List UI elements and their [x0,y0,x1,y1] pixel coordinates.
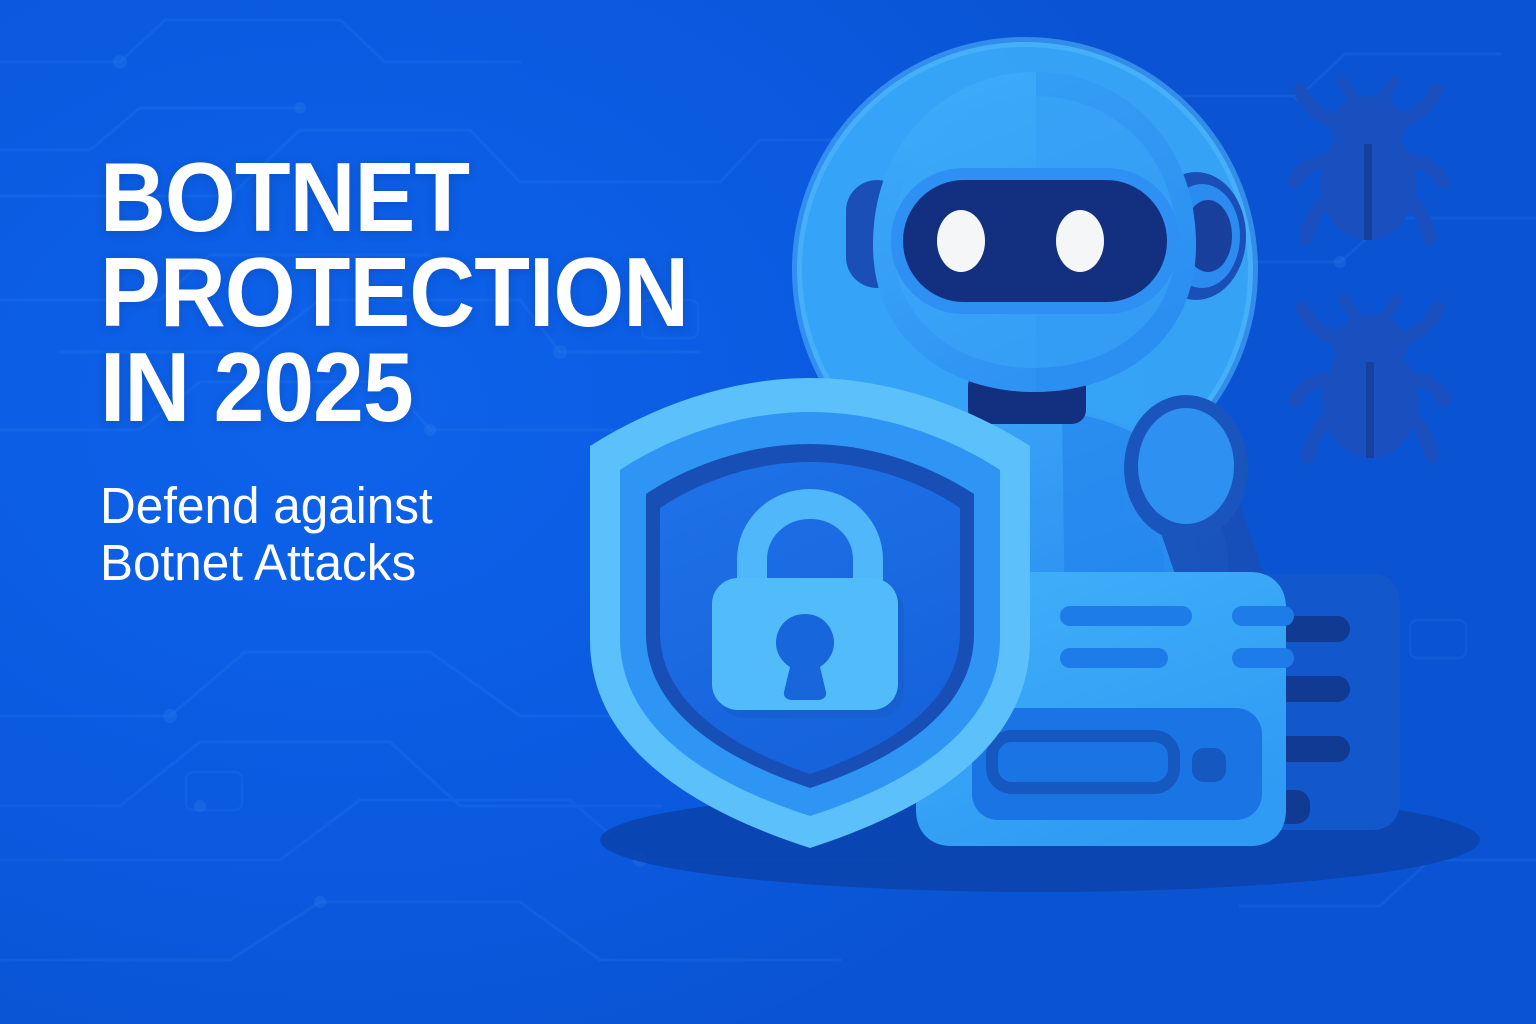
subhead-line-2: Botnet Attacks [100,534,837,591]
robot-eye-left [937,210,985,272]
card-drive-bay [972,708,1262,820]
magnifier-lens [1138,408,1234,524]
banner-root: BOTNET PROTECTION IN 2025 Defend against… [0,0,1536,1024]
subhead-line-1: Defend against [100,477,837,534]
malware-bug-1 [1294,82,1442,240]
page-title: BOTNET PROTECTION IN 2025 [100,150,807,435]
card-tag-2 [1232,648,1294,668]
headline-line-2: PROTECTION [100,245,807,340]
headline-line-3: IN 2025 [100,340,807,435]
card-line-1 [1060,606,1192,626]
card-tag-1 [1232,606,1294,626]
card-line-2 [1060,648,1168,668]
malware-bug-2 [1296,300,1444,458]
page-subtitle: Defend against Botnet Attacks [100,477,837,591]
robot-eye-right [1056,210,1104,272]
card-drive-led [1192,748,1226,782]
text-block: BOTNET PROTECTION IN 2025 Defend against… [100,150,860,591]
headline-line-1: BOTNET [100,150,807,245]
